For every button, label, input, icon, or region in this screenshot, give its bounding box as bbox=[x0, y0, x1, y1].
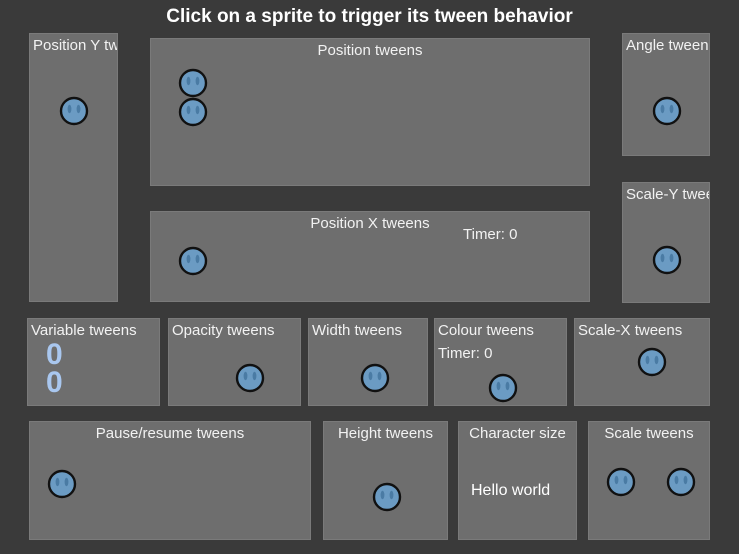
timer-label-colour-tweens: Timer: 0 bbox=[438, 345, 492, 363]
panel-label-scale-x-tweens: Scale-X tweens bbox=[578, 322, 682, 340]
page-title: Click on a sprite to trigger its tween b… bbox=[0, 6, 739, 28]
panel-label-scale-y-tweens: Scale-Y tweens bbox=[626, 186, 710, 204]
panel-label-width-tweens: Width tweens bbox=[312, 322, 402, 340]
panel-width-tweens: Width tweens bbox=[308, 318, 428, 406]
sprite-icon[interactable] bbox=[372, 482, 402, 512]
sprite-icon[interactable] bbox=[637, 347, 667, 377]
sprite-icon[interactable] bbox=[178, 97, 208, 127]
panel-label-character-size: Character size bbox=[459, 425, 576, 443]
panel-scale-y-tweens: Scale-Y tweens bbox=[622, 182, 710, 303]
panel-scale-tweens: Scale tweens bbox=[588, 421, 710, 540]
tween-demo-stage: Click on a sprite to trigger its tween b… bbox=[0, 0, 739, 554]
timer-label-position-x-tweens: Timer: 0 bbox=[463, 226, 517, 244]
panel-scale-x-tweens: Scale-X tweens bbox=[574, 318, 710, 406]
sprite-icon[interactable] bbox=[652, 245, 682, 275]
sprite-icon[interactable] bbox=[235, 363, 265, 393]
panel-angle-tweens: Angle tweens bbox=[622, 33, 710, 156]
sprite-icon[interactable] bbox=[178, 246, 208, 276]
panel-variable-tweens: Variable tweens00 bbox=[27, 318, 160, 406]
panel-label-position-y-tweens: Position Y tweens bbox=[33, 37, 118, 55]
panel-pause-resume-tweens: Pause/resume tweens bbox=[29, 421, 311, 540]
sprite-icon[interactable] bbox=[59, 96, 89, 126]
panel-opacity-tweens: Opacity tweens bbox=[168, 318, 301, 406]
panel-position-tweens: Position tweens bbox=[150, 38, 590, 186]
sprite-icon[interactable] bbox=[178, 68, 208, 98]
panel-position-x-tweens: Position X tweensTimer: 0 bbox=[150, 211, 590, 302]
panel-label-scale-tweens: Scale tweens bbox=[589, 425, 709, 443]
variable-value: 0 bbox=[46, 341, 63, 369]
panel-position-y-tweens: Position Y tweens bbox=[29, 33, 118, 302]
sprite-icon[interactable] bbox=[652, 96, 682, 126]
panel-label-height-tweens: Height tweens bbox=[324, 425, 447, 443]
panel-height-tweens: Height tweens bbox=[323, 421, 448, 540]
character-size-text: Hello world bbox=[471, 481, 550, 500]
sprite-icon[interactable] bbox=[488, 373, 518, 403]
panel-label-angle-tweens: Angle tweens bbox=[626, 37, 710, 55]
variable-value: 0 bbox=[46, 369, 63, 397]
panel-label-position-tweens: Position tweens bbox=[151, 42, 589, 60]
panel-label-colour-tweens: Colour tweens bbox=[438, 322, 534, 340]
sprite-icon[interactable] bbox=[47, 469, 77, 499]
sprite-icon[interactable] bbox=[360, 363, 390, 393]
panel-character-size: Character sizeHello world bbox=[458, 421, 577, 540]
sprite-icon[interactable] bbox=[606, 467, 636, 497]
panel-colour-tweens: Colour tweensTimer: 0 bbox=[434, 318, 567, 406]
panel-label-pause-resume-tweens: Pause/resume tweens bbox=[30, 425, 310, 443]
panel-label-position-x-tweens: Position X tweens bbox=[151, 215, 589, 233]
sprite-icon[interactable] bbox=[666, 467, 696, 497]
panel-label-opacity-tweens: Opacity tweens bbox=[172, 322, 275, 340]
